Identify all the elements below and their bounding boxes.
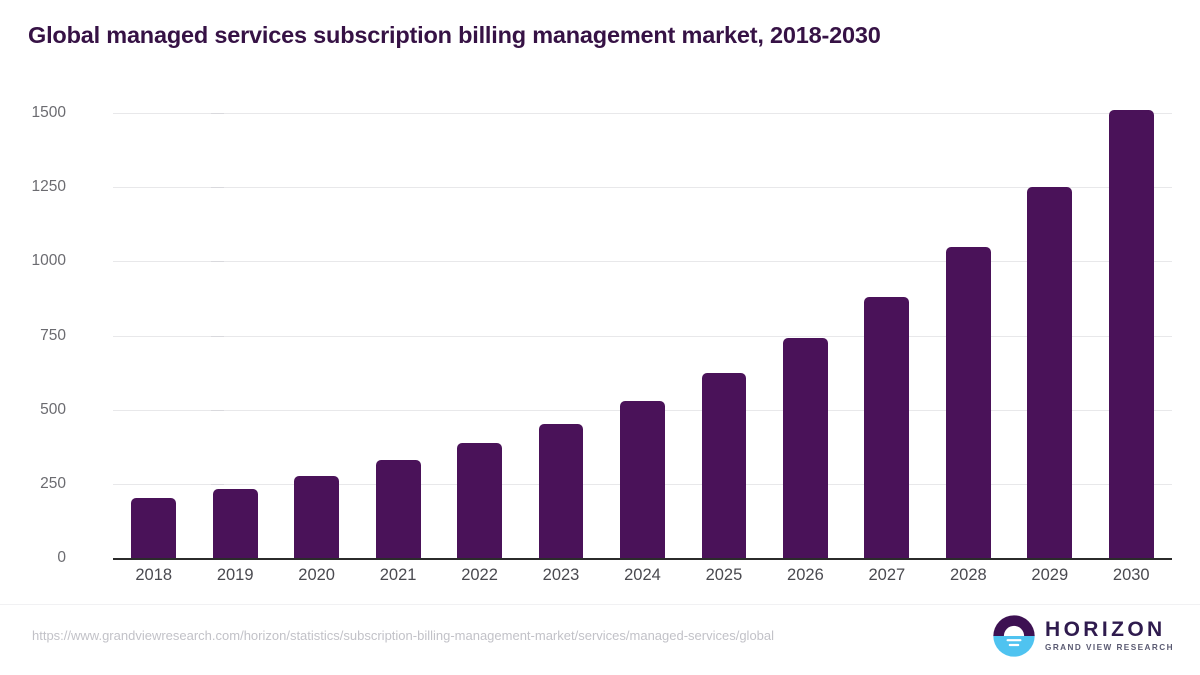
bar-slot bbox=[620, 113, 665, 558]
bar-slot bbox=[783, 113, 828, 558]
bar[interactable] bbox=[213, 489, 258, 558]
x-axis-tick-label: 2027 bbox=[846, 566, 927, 585]
bar[interactable] bbox=[702, 373, 747, 558]
bar-series bbox=[113, 113, 1172, 558]
footer-divider bbox=[0, 604, 1200, 605]
bar-slot bbox=[946, 113, 991, 558]
bar-slot bbox=[702, 113, 747, 558]
y-axis-tick-label: 1250 bbox=[0, 178, 66, 196]
chart-page: Global managed services subscription bil… bbox=[0, 0, 1200, 675]
x-axis-tick-label: 2018 bbox=[113, 566, 194, 585]
bar[interactable] bbox=[294, 476, 339, 558]
brand-logo[interactable]: HORIZON GRAND VIEW RESEARCH bbox=[992, 614, 1174, 658]
bar-slot bbox=[131, 113, 176, 558]
x-axis-tick-label: 2029 bbox=[1009, 566, 1090, 585]
logo-tagline: GRAND VIEW RESEARCH bbox=[1045, 644, 1174, 652]
x-axis-tick-label: 2024 bbox=[602, 566, 683, 585]
bar[interactable] bbox=[620, 401, 665, 558]
y-axis-tick-label: 1000 bbox=[0, 252, 66, 270]
bar-slot bbox=[539, 113, 584, 558]
x-axis-tick-label: 2025 bbox=[683, 566, 764, 585]
y-axis-tick-label: 1500 bbox=[0, 104, 66, 122]
bar[interactable] bbox=[457, 443, 502, 558]
logo-text: HORIZON GRAND VIEW RESEARCH bbox=[1045, 619, 1174, 652]
bar[interactable] bbox=[131, 498, 176, 558]
x-axis-tick-label: 2021 bbox=[357, 566, 438, 585]
bar[interactable] bbox=[1027, 187, 1072, 558]
x-axis-tick-label: 2030 bbox=[1091, 566, 1172, 585]
y-axis-tick-label: 750 bbox=[0, 327, 66, 345]
bar[interactable] bbox=[946, 247, 991, 558]
bar-slot bbox=[213, 113, 258, 558]
bar[interactable] bbox=[539, 424, 584, 558]
bar[interactable] bbox=[783, 338, 828, 558]
x-axis-tick-label: 2019 bbox=[194, 566, 275, 585]
bar-slot bbox=[1027, 113, 1072, 558]
y-axis-tick-label: 250 bbox=[0, 475, 66, 493]
x-axis-tick-label: 2028 bbox=[928, 566, 1009, 585]
bar-slot bbox=[1109, 113, 1154, 558]
logo-wordmark: HORIZON bbox=[1045, 619, 1174, 640]
page-title: Global managed services subscription bil… bbox=[28, 22, 881, 49]
x-axis-line bbox=[113, 558, 1172, 560]
y-axis-tick-label: 500 bbox=[0, 401, 66, 419]
bar-slot bbox=[294, 113, 339, 558]
y-axis-tick-label: 0 bbox=[0, 549, 66, 567]
x-axis-tick-label: 2026 bbox=[765, 566, 846, 585]
x-axis-tick-label: 2020 bbox=[276, 566, 357, 585]
horizon-sun-logo-icon bbox=[992, 614, 1036, 658]
bar-slot bbox=[864, 113, 909, 558]
bar[interactable] bbox=[864, 297, 909, 558]
bar[interactable] bbox=[1109, 110, 1154, 558]
bar-slot bbox=[376, 113, 421, 558]
source-url[interactable]: https://www.grandviewresearch.com/horizo… bbox=[32, 628, 774, 643]
x-axis-ticks: 2018201920202021202220232024202520262027… bbox=[113, 566, 1172, 596]
x-axis-tick-label: 2023 bbox=[520, 566, 601, 585]
x-axis-tick-label: 2022 bbox=[439, 566, 520, 585]
bar[interactable] bbox=[376, 460, 421, 558]
bar-slot bbox=[457, 113, 502, 558]
